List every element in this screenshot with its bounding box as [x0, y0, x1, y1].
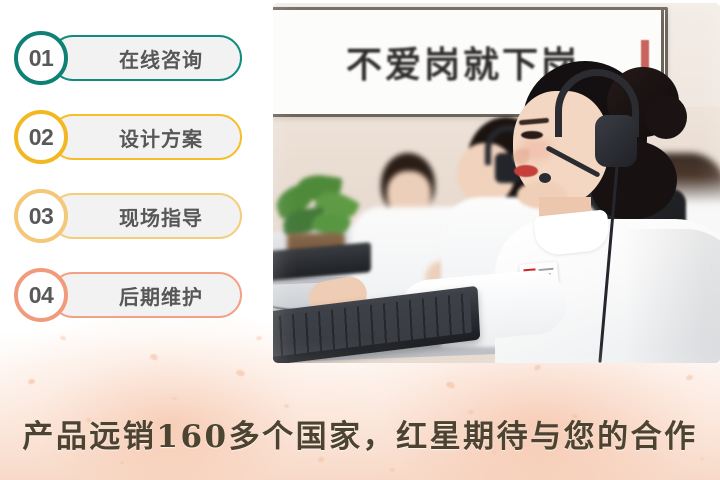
step-number-circle-04: 04 — [14, 268, 68, 322]
step-label-01: 在线咨询 — [80, 35, 242, 81]
step-label-03: 现场指导 — [80, 193, 242, 239]
step-label-02: 设计方案 — [80, 114, 242, 160]
step-item-01[interactable]: 在线咨询 01 — [14, 31, 242, 85]
step-number-circle-02: 02 — [14, 110, 68, 164]
petal — [533, 364, 541, 372]
banner-slogan: 产品远销160多个国家，红星期待与您的合作 — [22, 411, 697, 456]
step-label-04: 后期维护 — [80, 272, 242, 318]
petal — [685, 374, 693, 381]
bottom-banner: 产品远销160多个国家，红星期待与您的合作 — [0, 404, 720, 462]
step-number-circle-01: 01 — [14, 31, 68, 85]
step-item-04[interactable]: 后期维护 04 — [14, 268, 242, 322]
petal — [445, 381, 456, 390]
petal — [390, 467, 396, 472]
step-number-circle-03: 03 — [14, 189, 68, 243]
petal — [172, 396, 178, 400]
step-item-02[interactable]: 设计方案 02 — [14, 110, 242, 164]
potted-plant — [273, 173, 361, 253]
service-steps-list: 在线咨询 01 设计方案 02 现场指导 03 后期维护 04 — [0, 0, 262, 363]
step-item-03[interactable]: 现场指导 03 — [14, 189, 242, 243]
petal — [27, 378, 35, 385]
foreground-agent — [495, 61, 720, 363]
petal — [235, 369, 245, 377]
promo-banner-page: 在线咨询 01 设计方案 02 现场指导 03 后期维护 04 不爱岗就下岗 — [0, 0, 720, 480]
photo-content: 不爱岗就下岗 — [273, 3, 720, 363]
headset-earcup-icon — [595, 115, 637, 167]
call-center-photo: 不爱岗就下岗 — [273, 3, 720, 363]
